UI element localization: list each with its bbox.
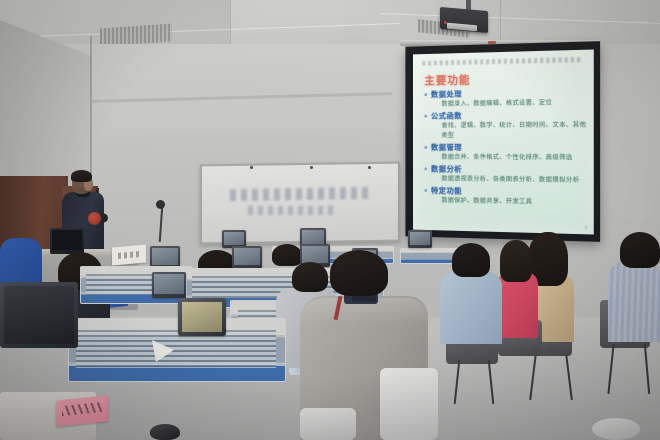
folding-chair[interactable] (592, 418, 640, 440)
partition-glass (76, 330, 276, 368)
whiteboard-erased-marks (230, 187, 370, 201)
whiteboard-erased-marks (248, 206, 338, 215)
person-head (452, 243, 490, 277)
projector-led-icon (444, 21, 447, 24)
slide-title: 主要功能 (424, 72, 470, 89)
student-head (272, 244, 302, 266)
monitor-screen (52, 230, 82, 250)
slide-detail: 查找、逻辑、数学、统计、日期时间、文本、其他类型 (424, 120, 587, 141)
person-head (330, 250, 388, 296)
microphone-icon[interactable] (156, 200, 165, 209)
person-head (500, 240, 532, 282)
slide-group: 数据管理 数据合并、条件格式、个性化排序、高级筛选 (424, 142, 587, 164)
ceiling-seam (230, 0, 231, 46)
slide-group: 数据处理 数据录入、数据编辑、格式设置、定位 (424, 87, 587, 110)
monitor-screen (302, 230, 324, 244)
monitor-screen (154, 274, 184, 294)
person-head (620, 232, 660, 268)
monitor-screen (234, 248, 260, 265)
slide-group: 特定功能 数据保护、数据共享、开发工具 (424, 185, 587, 209)
slide-detail: 数据录入、数据编辑、格式设置、定位 (424, 98, 587, 110)
presenter-shirt-logo (88, 212, 101, 225)
projected-slide: 主要功能 数据处理 数据录入、数据编辑、格式设置、定位 公式函数 查找、逻辑、数… (413, 50, 594, 235)
whiteboard-clip (310, 166, 313, 169)
ceiling-seam (500, 0, 501, 40)
presenter-hair (71, 170, 92, 182)
slide-page-number: 6 (585, 225, 588, 230)
monitor-screen (152, 248, 178, 265)
monitor-screen (224, 232, 244, 245)
slide-bullet-list: 数据处理 数据录入、数据编辑、格式设置、定位 公式函数 查找、逻辑、数学、统计、… (424, 87, 587, 210)
slide-detail: 数据透视表分析、各类图表分析、数据模拟分析 (424, 174, 587, 186)
monitor-screen (410, 232, 430, 245)
slide-detail: 数据合并、条件格式、个性化排序、高级筛选 (424, 153, 587, 164)
whiteboard-clip (250, 166, 253, 169)
slide-header-line (422, 57, 581, 66)
person-head (292, 262, 328, 292)
whiteboard-clip (368, 166, 371, 169)
slide-group: 数据分析 数据透视表分析、各类图表分析、数据模拟分析 (424, 164, 587, 187)
monitor-screen (4, 286, 74, 344)
slide-heading: 数据处理 (424, 87, 587, 100)
slide-group: 公式函数 查找、逻辑、数学、统计、日期时间、文本、其他类型 (424, 109, 587, 141)
computer-mouse[interactable] (150, 424, 180, 440)
person-light-blue (440, 272, 502, 344)
slide-heading: 数据分析 (424, 164, 587, 176)
slide-heading: 公式函数 (424, 109, 587, 121)
folding-chair[interactable] (380, 368, 438, 440)
folding-chair[interactable] (300, 408, 356, 440)
classroom-photo: 主要功能 数据处理 数据录入、数据编辑、格式设置、定位 公式函数 查找、逻辑、数… (0, 0, 660, 440)
monitor-screen (302, 246, 328, 263)
man-striped-shirt (608, 262, 660, 342)
monitor-screen (182, 302, 222, 332)
slide-heading: 数据管理 (424, 142, 587, 153)
